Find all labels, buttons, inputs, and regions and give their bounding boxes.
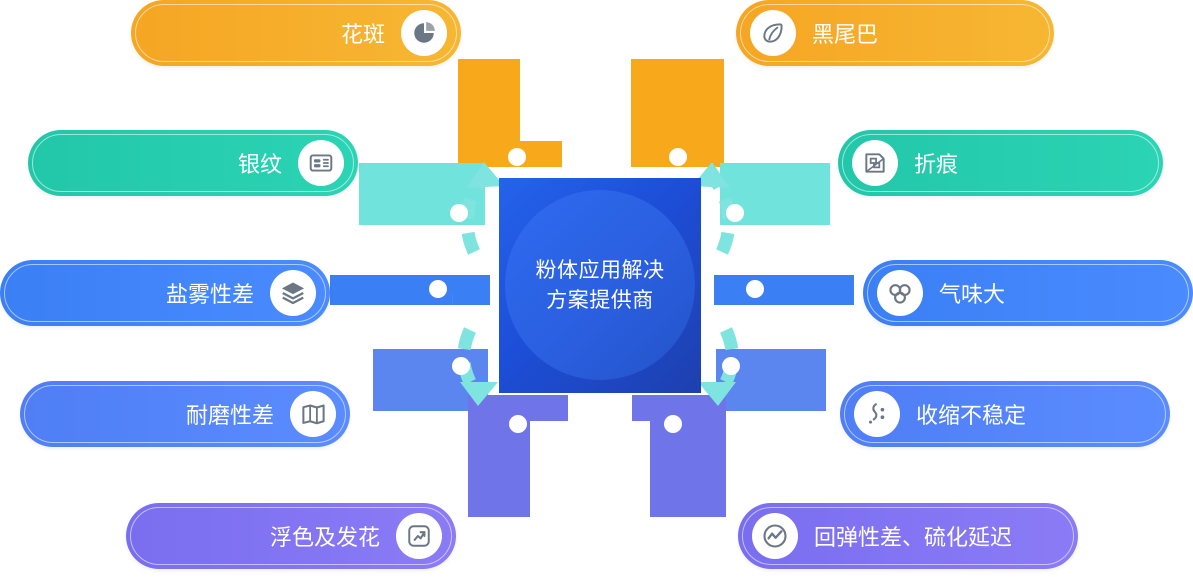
layers-icon	[270, 270, 316, 316]
line-chart-icon	[752, 513, 798, 559]
pill-right-1[interactable]: 黑尾巴	[736, 0, 1054, 66]
pill-label: 收缩不稳定	[916, 398, 1026, 430]
growth-chart-icon	[396, 513, 442, 559]
id-card-icon	[298, 140, 344, 186]
pill-left-3[interactable]: 盐雾性差	[0, 260, 330, 326]
book-icon	[290, 391, 336, 437]
connector-block-purple-right-arm	[632, 395, 726, 421]
pill-label: 银纹	[238, 147, 282, 179]
pill-right-2[interactable]: 折痕	[838, 130, 1163, 196]
pill-label: 折痕	[914, 147, 958, 179]
pill-label: 回弹性差、硫化延迟	[814, 520, 1012, 552]
pill-left-2[interactable]: 银纹	[28, 130, 358, 196]
center-label-line2: 方案提供商	[546, 286, 654, 316]
pill-label: 黑尾巴	[812, 17, 878, 49]
leaf-icon	[750, 10, 796, 56]
center-node: 粉体应用解决 方案提供商	[499, 178, 701, 393]
smell-icon	[877, 270, 923, 316]
pill-right-4[interactable]: 收缩不稳定	[840, 381, 1170, 447]
connector-block-blue2-right	[716, 349, 826, 411]
diagram-canvas: 粉体应用解决 方案提供商 花斑银纹盐雾性差耐磨性差浮色及发花黑尾巴折痕气味大收缩…	[0, 0, 1193, 577]
pill-left-4[interactable]: 耐磨性差	[20, 381, 350, 447]
pill-label: 耐磨性差	[186, 398, 274, 430]
pill-right-3[interactable]: 气味大	[863, 260, 1193, 326]
pill-left-1[interactable]: 花斑	[131, 0, 461, 66]
origami-icon	[852, 140, 898, 186]
shrink-icon	[854, 391, 900, 437]
connector-block-blue-right	[714, 275, 854, 305]
connector-block-orange-right-arm	[631, 141, 724, 167]
connector-block-blue-left	[330, 275, 490, 305]
pill-right-5[interactable]: 回弹性差、硫化延迟	[738, 503, 1078, 569]
pill-label: 浮色及发花	[270, 520, 380, 552]
center-label-line1: 粉体应用解决	[536, 256, 665, 286]
connector-block-purple-left-arm	[468, 395, 568, 421]
pill-label: 花斑	[341, 17, 385, 49]
connector-block-teal-right	[720, 163, 830, 225]
pill-label: 气味大	[939, 277, 1005, 309]
center-label: 粉体应用解决 方案提供商	[499, 178, 701, 393]
pie-chart-icon	[401, 10, 447, 56]
connector-block-teal-left	[359, 163, 485, 225]
pill-left-5[interactable]: 浮色及发花	[126, 503, 456, 569]
pill-label: 盐雾性差	[166, 277, 254, 309]
